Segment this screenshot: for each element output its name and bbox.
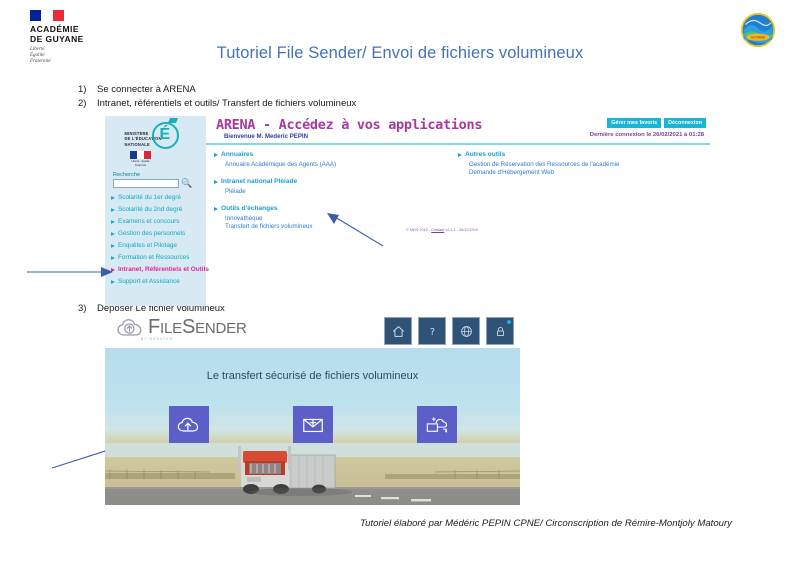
arena-link-demande-hebergement-web[interactable]: Demande d'Hébergement Web xyxy=(469,169,688,178)
arena-group-autres-outils: Autres outils Gestion de Réservation des… xyxy=(458,150,688,178)
filesender-wordmark: FILESENDER xyxy=(148,317,247,339)
arena-heading: ARENA - Accédez à vos applications xyxy=(216,117,482,133)
account-button[interactable] xyxy=(486,317,514,345)
arena-group-title-label: Intranet national Pléiade xyxy=(221,177,297,186)
arena-divider xyxy=(206,143,710,145)
sidebar-item-label: Support et Assistance xyxy=(118,278,180,286)
svg-text:GUYANE: GUYANE xyxy=(751,36,766,40)
page-title: Tutoriel File Sender/ Envoi de fichiers … xyxy=(0,44,800,63)
step-number-2: 2) xyxy=(78,98,97,109)
arena-group-title-label: Outils d'échanges xyxy=(221,204,278,213)
arena-footer: © MEN 2015 - Contact v2.1.1 - 06/10/2019 xyxy=(406,228,478,232)
ministry-motto-2: Fraternité xyxy=(130,164,152,167)
lock-user-icon xyxy=(494,325,507,338)
sidebar-item-label: Examens et concours xyxy=(118,218,179,226)
arena-footer-prefix: © MEN 2015 - xyxy=(406,228,431,232)
folder-cloud-icon xyxy=(425,415,449,435)
step-text-1: Se connecter à ARENA xyxy=(97,84,196,95)
tile-icon-wrap xyxy=(293,406,333,444)
step-number-3: 3) xyxy=(78,303,97,314)
ministry-motto-1: Liberté · Égalité xyxy=(130,160,152,163)
cloud-upload-logo-icon xyxy=(117,318,143,338)
bullet-icon xyxy=(111,196,115,200)
arena-last-connection: Dernière connexion le 26/02/2021 à 01:28 xyxy=(590,132,704,138)
sidebar-item-support-assistance[interactable]: Support et Assistance xyxy=(105,276,206,288)
arena-link-pleiade[interactable]: Pléiade xyxy=(225,188,454,197)
home-icon xyxy=(392,325,405,338)
globe-logo-icon: GUYANE xyxy=(740,12,776,48)
filesender-hero: Le transfert sécurisé de fichiers volumi… xyxy=(105,348,520,505)
bullet-icon xyxy=(214,180,218,184)
academy-name-line-1: ACADÉMIE xyxy=(30,24,106,34)
arena-group-title-label: Autres outils xyxy=(465,150,505,159)
step-item-2: 2)Intranet, référentiels et outils/ Tran… xyxy=(78,98,356,109)
bullet-icon xyxy=(111,220,115,224)
tile-icon-wrap xyxy=(417,406,457,444)
fs-word-f: F xyxy=(148,316,160,338)
sidebar-item-label: Formation et Ressources xyxy=(118,254,189,262)
french-flag-icon xyxy=(130,151,152,159)
ministry-logo: MINISTÈRE DE L'ÉDUCATION NATIONALE Liber… xyxy=(124,120,188,170)
arena-group-title: Autres outils xyxy=(458,150,688,159)
cloud-upload-icon xyxy=(177,415,201,435)
sidebar-item-label: Enquêtes et Pilotage xyxy=(118,242,177,250)
ministry-flag-block: Liberté · Égalité Fraternité xyxy=(130,151,152,167)
search-icon[interactable]: 🔍 xyxy=(181,179,192,188)
sidebar-item-enquetes-pilotage[interactable]: Enquêtes et Pilotage xyxy=(105,240,206,252)
question-mark-icon: ? xyxy=(426,325,439,338)
sidebar-item-examens[interactable]: Examens et concours xyxy=(105,216,206,228)
arena-group-title-label: Annuaires xyxy=(221,150,253,159)
bullet-icon xyxy=(111,208,115,212)
fs-word-ender: ENDER xyxy=(195,320,247,337)
svg-text:?: ? xyxy=(429,327,434,338)
arena-main-panel: Gérer mes favoris Déconnexion ARENA - Ac… xyxy=(206,116,710,306)
arena-screenshot: MINISTÈRE DE L'ÉDUCATION NATIONALE Liber… xyxy=(105,116,710,306)
arena-welcome-message: Bienvenue M. Mederic PEPIN xyxy=(224,133,308,140)
filesender-screenshot: FILESENDER BY RENATER ? xyxy=(105,315,520,505)
arena-top-actions: Gérer mes favoris Déconnexion xyxy=(607,118,706,128)
arena-group-pleiade: Intranet national Pléiade Pléiade xyxy=(214,177,454,196)
marianne-e-icon xyxy=(152,122,179,149)
sidebar-item-label: Scolarité du 2nd degré xyxy=(118,206,182,214)
search-input[interactable] xyxy=(113,179,179,188)
arena-sidebar: MINISTÈRE DE L'ÉDUCATION NATIONALE Liber… xyxy=(105,116,206,306)
search-label: Recherche xyxy=(113,172,206,178)
sidebar-item-label: Gestion des personnels xyxy=(118,230,185,238)
footer-credit: Tutoriel élaboré par Médéric PEPIN CPNE/… xyxy=(360,518,732,529)
arena-column-right: Autres outils Gestion de Réservation des… xyxy=(458,150,688,186)
fs-word-ile: ILE xyxy=(160,320,182,337)
hero-title: Le transfert sécurisé de fichiers volumi… xyxy=(105,370,520,382)
globe-icon xyxy=(460,325,473,338)
sidebar-item-formation-ressources[interactable]: Formation et Ressources xyxy=(105,252,206,264)
arena-footer-contact-link[interactable]: Contact xyxy=(431,228,444,232)
sidebar-item-scolarite-2nd[interactable]: Scolarité du 2nd degré xyxy=(105,204,206,216)
step-item-1: 1)Se connecter à ARENA xyxy=(78,84,196,95)
fs-word-s: S xyxy=(182,316,195,338)
arrow-to-intranet-menu xyxy=(25,262,115,282)
home-button[interactable] xyxy=(384,317,412,345)
tile-icon-wrap xyxy=(169,406,209,444)
filesender-header: FILESENDER BY RENATER ? xyxy=(105,315,520,348)
step-text-2: Intranet, référentiels et outils/ Transf… xyxy=(97,98,356,109)
bullet-icon xyxy=(214,153,218,157)
step-number-1: 1) xyxy=(78,84,97,95)
envelope-plus-icon xyxy=(301,415,325,435)
logout-button[interactable]: Déconnexion xyxy=(664,118,706,128)
filesender-nav: ? xyxy=(384,317,514,345)
bullet-icon xyxy=(111,232,115,236)
arena-footer-suffix: v2.1.1 - 06/10/2019 xyxy=(444,228,478,232)
french-flag-icon xyxy=(30,10,64,21)
sidebar-item-gestion-personnels[interactable]: Gestion des personnels xyxy=(105,228,206,240)
arena-link-annuaire-aaa[interactable]: Annuaire Académique des Agents (AAA) xyxy=(225,161,454,170)
bullet-icon xyxy=(111,256,115,260)
manage-favorites-button[interactable]: Gérer mes favoris xyxy=(607,118,661,128)
language-button[interactable] xyxy=(452,317,480,345)
truck-highway-photo xyxy=(105,443,520,505)
arena-group-annuaires: Annuaires Annuaire Académique des Agents… xyxy=(214,150,454,169)
notification-badge-icon xyxy=(507,320,511,324)
arena-group-title: Intranet national Pléiade xyxy=(214,177,454,186)
sidebar-item-scolarite-1er[interactable]: Scolarité du 1er degré xyxy=(105,192,206,204)
arena-link-gestion-reservation[interactable]: Gestion de Réservation des Ressources de… xyxy=(469,161,688,170)
help-button[interactable]: ? xyxy=(418,317,446,345)
bullet-icon xyxy=(458,153,462,157)
sidebar-item-label: Intranet, Référentiels et Outils xyxy=(118,266,209,274)
academy-name-line-2: DE GUYANE xyxy=(30,34,106,44)
filesender-logo[interactable]: FILESENDER xyxy=(117,317,247,339)
arena-menu: Scolarité du 1er degré Scolarité du 2nd … xyxy=(105,192,206,288)
arrow-to-transfert-link xyxy=(325,212,385,248)
bullet-icon xyxy=(111,244,115,248)
search-row: 🔍 xyxy=(113,179,206,188)
filesender-tagline: BY RENATER xyxy=(141,337,173,341)
sidebar-item-label: Scolarité du 1er degré xyxy=(118,194,181,202)
bullet-icon xyxy=(214,207,218,211)
arena-group-title: Annuaires xyxy=(214,150,454,159)
sidebar-item-intranet-referentiels-outils[interactable]: Intranet, Référentiels et Outils xyxy=(105,264,206,276)
